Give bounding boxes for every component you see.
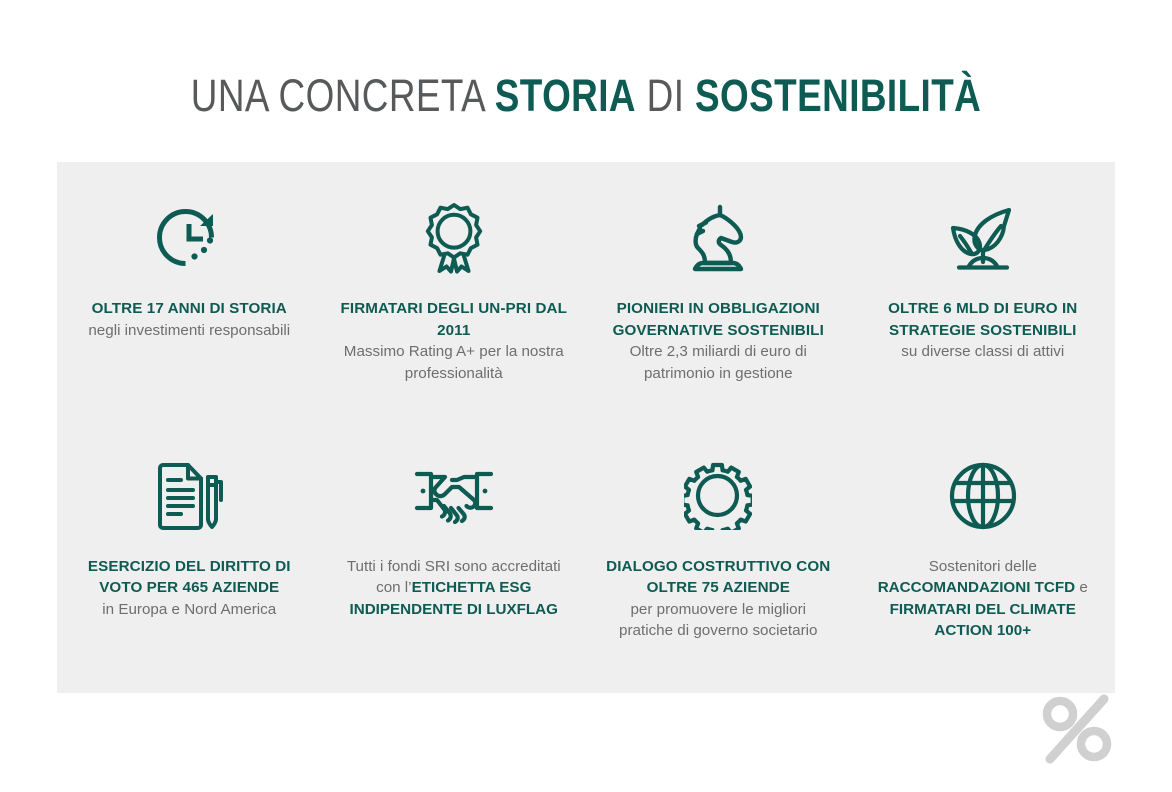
handshake-icon <box>414 450 494 542</box>
highlight-headline: OLTRE 17 ANNI DI STORIA <box>88 298 290 320</box>
highlight-headline: OLTRE 6 MLD DI EURO IN STRATEGIE SOSTENI… <box>867 298 1099 341</box>
highlight-subline: in Europa e Nord America <box>73 599 305 621</box>
highlight-card: Tutti i fondi SRI sono accreditati con l… <box>322 428 587 694</box>
highlight-card: OLTRE 17 ANNI DI STORIA negli investimen… <box>57 162 322 428</box>
plant-sprout-icon <box>947 192 1019 284</box>
highlight-mixed-1: RACCOMANDAZIONI TCFD <box>878 579 1075 596</box>
percent-logo <box>1034 694 1120 764</box>
highlight-headline: ESERCIZIO DEL DIRITTO DI VOTO PER 465 AZ… <box>73 556 305 599</box>
highlight-card-text: OLTRE 17 ANNI DI STORIA negli investimen… <box>88 298 290 341</box>
clock-arrow-icon <box>157 192 221 284</box>
highlight-card-text: PIONIERI IN OBBLIGAZIONI GOVERNATIVE SOS… <box>602 298 834 384</box>
highlight-card-text: Tutti i fondi SRI sono accreditati con l… <box>338 556 570 621</box>
highlight-mixed-0: Sostenitori delle <box>929 558 1037 575</box>
highlight-card: ESERCIZIO DEL DIRITTO DI VOTO PER 465 AZ… <box>57 428 322 694</box>
highlight-headline: PIONIERI IN OBBLIGAZIONI GOVERNATIVE SOS… <box>602 298 834 341</box>
award-ribbon-icon <box>423 192 485 284</box>
globe-icon <box>948 450 1018 542</box>
highlight-card: OLTRE 6 MLD DI EURO IN STRATEGIE SOSTENI… <box>851 162 1116 428</box>
highlight-card: Sostenitori delle RACCOMANDAZIONI TCFD e… <box>851 428 1116 694</box>
highlight-subline: Massimo Rating A+ per la nostra professi… <box>338 341 570 384</box>
highlight-subline: su diverse classi di attivi <box>867 341 1099 363</box>
page-title-di: DI <box>636 70 695 121</box>
document-pen-icon <box>155 450 223 542</box>
highlight-subline: per promuovere le migliori pratiche di g… <box>602 599 834 642</box>
highlight-headline: DIALOGO COSTRUTTIVO CON OLTRE 75 AZIENDE <box>602 556 834 599</box>
highlight-card-text: OLTRE 6 MLD DI EURO IN STRATEGIE SOSTENI… <box>867 298 1099 363</box>
page-title-storia: STORIA <box>495 70 636 121</box>
highlight-subline: Oltre 2,3 miliardi di euro di patrimonio… <box>602 341 834 384</box>
page-title: UNA CONCRETA STORIA DI SOSTENIBILITÀ <box>105 70 1066 122</box>
highlights-grid: OLTRE 17 ANNI DI STORIA negli investimen… <box>57 162 1115 693</box>
highlight-card-text: Sostenitori delle RACCOMANDAZIONI TCFD e… <box>867 556 1099 642</box>
highlights-panel: OLTRE 17 ANNI DI STORIA negli investimen… <box>57 162 1115 693</box>
highlight-headline: FIRMATARI DEGLI UN-PRI DAL 2011 <box>338 298 570 341</box>
page-title-sostenibilita: SOSTENIBILITÀ <box>695 70 981 121</box>
highlight-mixed-2: e <box>1075 579 1088 596</box>
highlight-card: FIRMATARI DEGLI UN-PRI DAL 2011 Massimo … <box>322 162 587 428</box>
highlight-card-text: DIALOGO COSTRUTTIVO CON OLTRE 75 AZIENDE… <box>602 556 834 642</box>
chess-knight-icon <box>685 192 751 284</box>
highlight-card-text: ESERCIZIO DEL DIRITTO DI VOTO PER 465 AZ… <box>73 556 305 621</box>
highlight-mixed-3: FIRMATARI DEL CLIMATE ACTION 100+ <box>890 601 1076 640</box>
gear-icon <box>684 450 752 542</box>
highlight-card: DIALOGO COSTRUTTIVO CON OLTRE 75 AZIENDE… <box>586 428 851 694</box>
highlight-card-text: FIRMATARI DEGLI UN-PRI DAL 2011 Massimo … <box>338 298 570 384</box>
highlight-card: PIONIERI IN OBBLIGAZIONI GOVERNATIVE SOS… <box>586 162 851 428</box>
page-title-part1: UNA CONCRETA <box>191 70 495 121</box>
highlight-subline: negli investimenti responsabili <box>88 320 290 342</box>
